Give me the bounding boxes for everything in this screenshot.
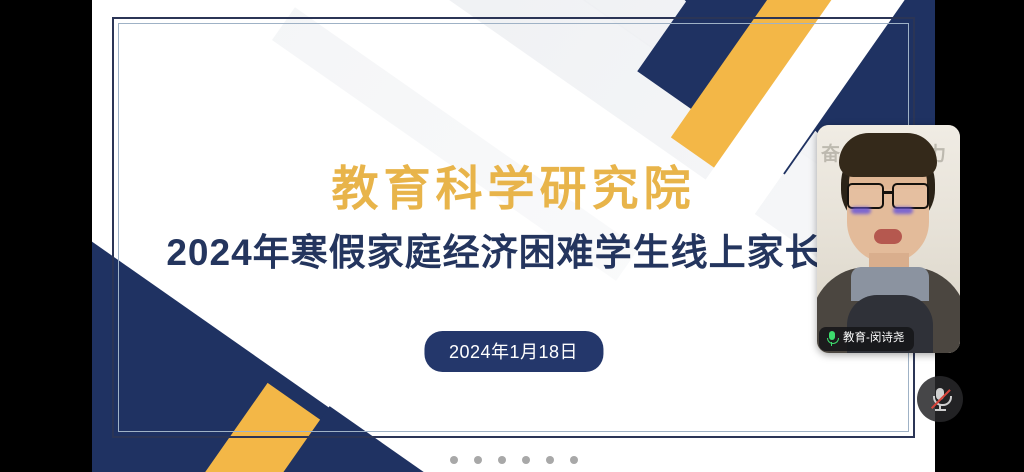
glasses-lens-right bbox=[892, 183, 929, 209]
page-indicator-dots[interactable] bbox=[450, 456, 578, 464]
glasses-lens-left bbox=[847, 183, 884, 209]
participant-name-label: 教育-闵诗尧 bbox=[843, 333, 904, 345]
face-effect-left bbox=[851, 207, 871, 214]
screen-share-stage: 教育科学研究院 2024年寒假家庭经济困难学生线上家长会 2024年1月18日 … bbox=[0, 0, 1024, 472]
page-dot[interactable] bbox=[522, 456, 530, 464]
participant-nameplate: 教育-闵诗尧 bbox=[819, 327, 914, 351]
page-dot[interactable] bbox=[498, 456, 506, 464]
person-hair-top bbox=[839, 133, 937, 177]
microphone-muted-icon bbox=[931, 387, 949, 411]
page-dot[interactable] bbox=[546, 456, 554, 464]
slide-title: 教育科学研究院 bbox=[92, 150, 935, 219]
mute-toggle-button[interactable] bbox=[917, 376, 963, 422]
person-mouth bbox=[874, 229, 902, 244]
person-glasses bbox=[845, 183, 931, 205]
page-dot[interactable] bbox=[450, 456, 458, 464]
presentation-slide[interactable]: 教育科学研究院 2024年寒假家庭经济困难学生线上家长会 2024年1月18日 bbox=[92, 0, 935, 472]
slide-subtitle: 2024年寒假家庭经济困难学生线上家长会 bbox=[92, 222, 935, 276]
face-effect-right bbox=[893, 207, 913, 214]
participant-video-tile[interactable]: 奋 力 教育-闵诗尧 bbox=[817, 125, 960, 353]
page-dot[interactable] bbox=[474, 456, 482, 464]
microphone-on-icon bbox=[826, 331, 837, 346]
slide-date-badge: 2024年1月18日 bbox=[424, 331, 603, 372]
page-dot[interactable] bbox=[570, 456, 578, 464]
